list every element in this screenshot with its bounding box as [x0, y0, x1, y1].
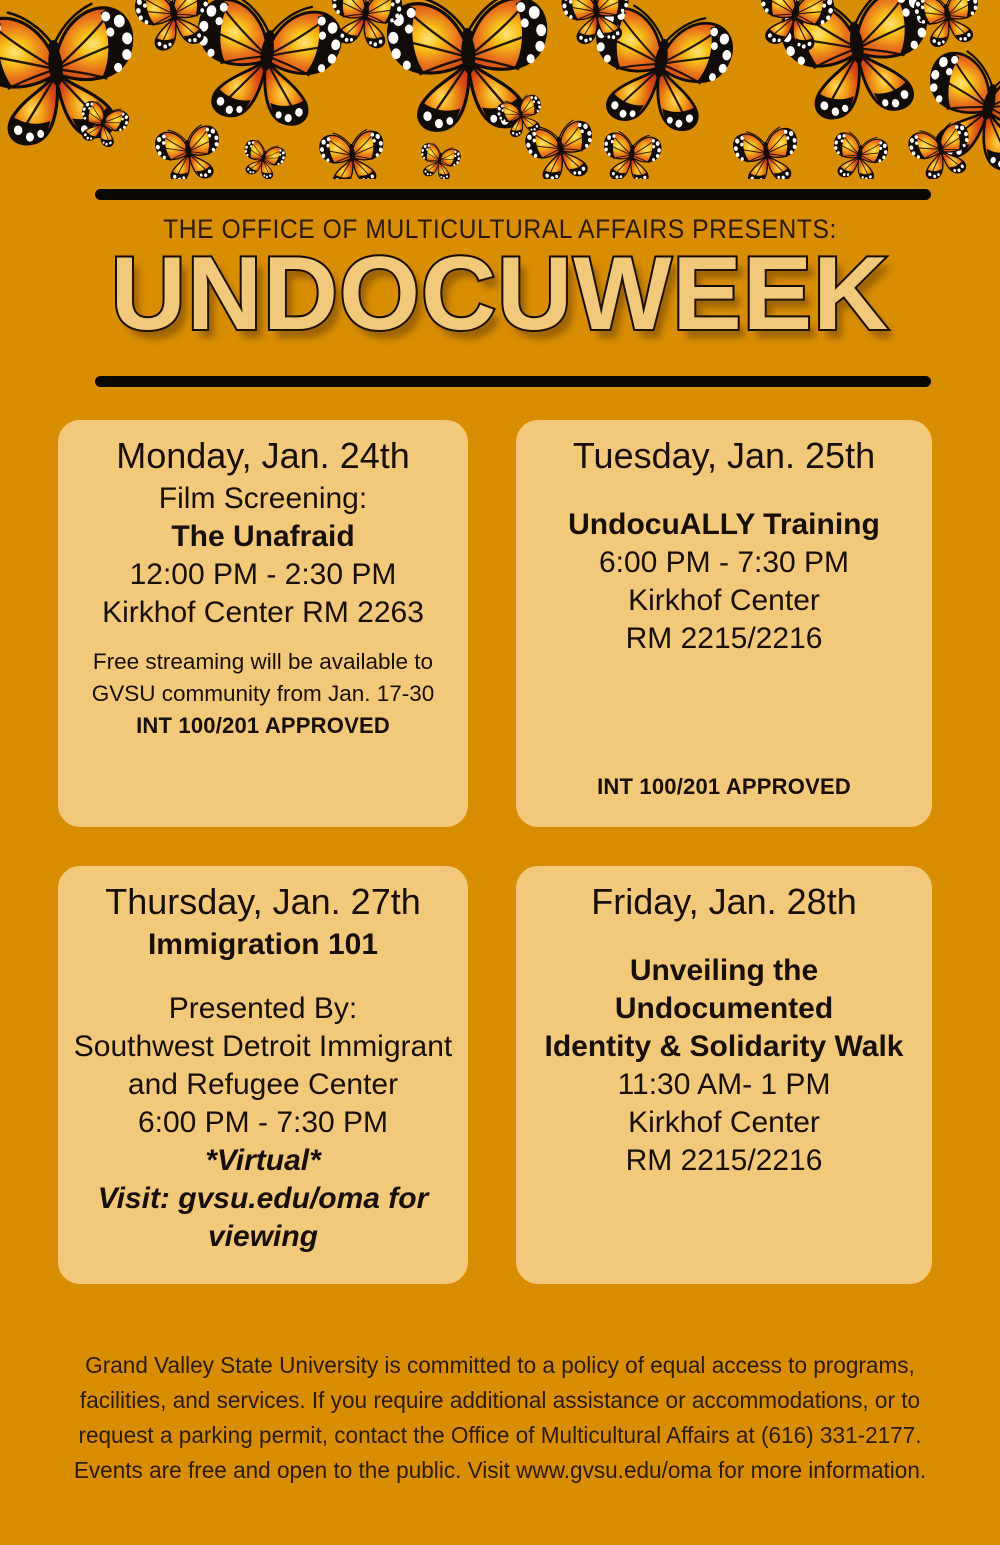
event-note: GVSU community from Jan. 17-30 [92, 678, 435, 710]
footer-line: facilities, and services. If you require… [41, 1383, 959, 1418]
event-approval-badge: INT 100/201 APPROVED [597, 771, 851, 803]
event-line: 12:00 PM - 2:30 PM [130, 556, 397, 594]
event-line: RM 2215/2216 [626, 620, 823, 658]
event-line: Unveiling the [630, 952, 818, 990]
event-date: Tuesday, Jan. 25th [573, 434, 875, 478]
event-line: 11:30 AM- 1 PM [618, 1066, 831, 1104]
event-line: Film Screening: [159, 480, 367, 518]
footer-line: request a parking permit, contact the Of… [41, 1418, 959, 1453]
event-card-tuesday[interactable]: Tuesday, Jan. 25th UndocuALLY Training 6… [516, 420, 932, 827]
event-line: Presented By: [169, 990, 357, 1028]
event-line: Undocumented [615, 990, 833, 1028]
footer-line: Events are free and open to the public. … [41, 1453, 959, 1488]
event-line: 6:00 PM - 7:30 PM [138, 1104, 388, 1142]
event-card-monday[interactable]: Monday, Jan. 24th Film Screening: The Un… [58, 420, 468, 827]
event-date: Thursday, Jan. 27th [105, 880, 421, 924]
event-line: The Unafraid [171, 518, 354, 556]
divider-top [95, 189, 931, 200]
butterfly-banner [0, 0, 1000, 186]
event-card-thursday[interactable]: Thursday, Jan. 27th Immigration 101 Pres… [58, 866, 468, 1284]
event-line: *Virtual* [205, 1142, 321, 1180]
event-line: Kirkhof Center [628, 582, 820, 620]
event-card-friday[interactable]: Friday, Jan. 28th Unveiling the Undocume… [516, 866, 932, 1284]
event-line: Immigration 101 [148, 926, 378, 964]
event-line: 6:00 PM - 7:30 PM [599, 544, 849, 582]
footer-line: Grand Valley State University is committ… [41, 1348, 959, 1383]
accessibility-footer: Grand Valley State University is committ… [41, 1348, 959, 1488]
event-line: and Refugee Center [128, 1066, 398, 1104]
event-line: RM 2215/2216 [626, 1142, 823, 1180]
event-note: Free streaming will be available to [93, 646, 433, 678]
event-date: Friday, Jan. 28th [591, 880, 856, 924]
event-line: UndocuALLY Training [568, 506, 880, 544]
event-date: Monday, Jan. 24th [116, 434, 410, 478]
event-line: viewing [208, 1218, 318, 1256]
page-title: UNDOCUWEEK [0, 238, 1000, 350]
event-line: Southwest Detroit Immigrant [74, 1028, 452, 1066]
divider-bottom [95, 376, 931, 387]
event-approval-badge: INT 100/201 APPROVED [136, 710, 390, 742]
event-line: Kirkhof Center [628, 1104, 820, 1142]
title-block: THE OFFICE OF MULTICULTURAL AFFAIRS PRES… [0, 186, 1000, 396]
event-line: Visit: gvsu.edu/oma for [98, 1180, 429, 1218]
event-line: Kirkhof Center RM 2263 [102, 594, 424, 632]
event-line: Identity & Solidarity Walk [545, 1028, 904, 1066]
